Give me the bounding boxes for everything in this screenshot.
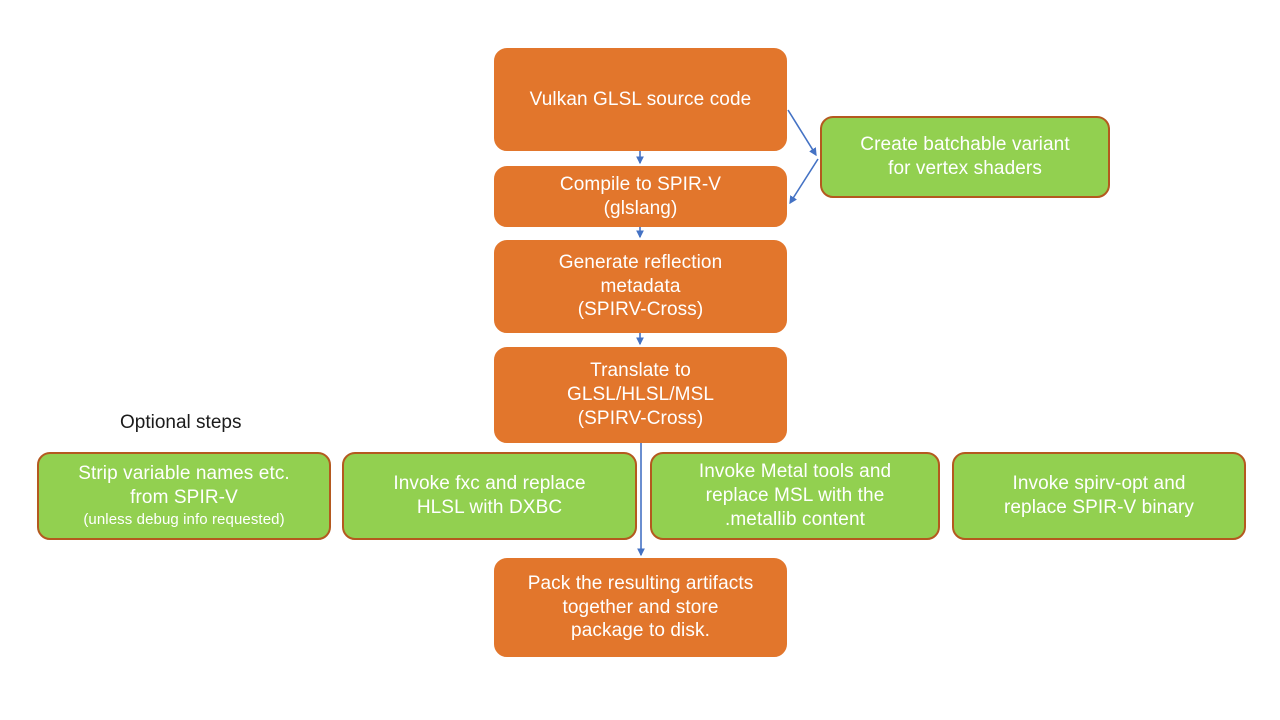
node-invoke-metal-tools-line-0: Invoke Metal tools and [699,460,891,484]
node-invoke-fxc-replace-hlsl-line-0: Invoke fxc and replace [393,472,585,496]
connector-source-to-batchable [788,110,816,155]
node-strip-variable-names-line-1: from SPIR-V [130,486,238,510]
node-generate-reflection-metadata-line-0: Generate reflection [559,251,723,275]
node-invoke-spirv-opt-line-0: Invoke spirv-opt and [1012,472,1185,496]
node-pack-artifacts-line-2: package to disk. [571,619,710,643]
node-invoke-fxc-replace-hlsl-line-1: HLSL with DXBC [417,496,562,520]
connector-batchable-to-compile [790,159,818,203]
node-strip-variable-names-line-0: Strip variable names etc. [78,462,290,486]
node-strip-variable-names[interactable]: Strip variable names etc.from SPIR-V(unl… [37,452,331,540]
node-invoke-spirv-opt[interactable]: Invoke spirv-opt andreplace SPIR-V binar… [952,452,1246,540]
node-invoke-metal-tools-line-2: .metallib content [725,508,865,532]
node-invoke-fxc-replace-hlsl[interactable]: Invoke fxc and replaceHLSL with DXBC [342,452,637,540]
node-invoke-metal-tools-line-1: replace MSL with the [706,484,885,508]
node-pack-artifacts-line-1: together and store [562,596,718,620]
node-translate-to-glsl-hlsl-msl-line-2: (SPIRV-Cross) [578,407,704,431]
node-create-batchable-variant-line-1: for vertex shaders [888,157,1042,181]
node-pack-artifacts[interactable]: Pack the resulting artifactstogether and… [494,558,787,657]
node-generate-reflection-metadata-line-2: (SPIRV-Cross) [578,298,704,322]
optional-steps-label: Optional steps [120,412,241,435]
node-vulkan-glsl-source-line-0: Vulkan GLSL source code [530,88,752,112]
node-compile-to-spirv-line-1: (glslang) [604,197,678,221]
node-create-batchable-variant[interactable]: Create batchable variantfor vertex shade… [820,116,1110,198]
node-translate-to-glsl-hlsl-msl-line-1: GLSL/HLSL/MSL [567,383,714,407]
node-generate-reflection-metadata-line-1: metadata [600,275,680,299]
node-compile-to-spirv-line-0: Compile to SPIR-V [560,173,721,197]
node-invoke-metal-tools[interactable]: Invoke Metal tools andreplace MSL with t… [650,452,940,540]
node-vulkan-glsl-source[interactable]: Vulkan GLSL source code [494,48,787,151]
node-translate-to-glsl-hlsl-msl[interactable]: Translate toGLSL/HLSL/MSL(SPIRV-Cross) [494,347,787,443]
node-create-batchable-variant-line-0: Create batchable variant [860,133,1069,157]
diagram-canvas: Vulkan GLSL source codeCompile to SPIR-V… [0,0,1280,720]
node-generate-reflection-metadata[interactable]: Generate reflectionmetadata(SPIRV-Cross) [494,240,787,333]
node-pack-artifacts-line-0: Pack the resulting artifacts [528,572,754,596]
node-strip-variable-names-line-2: (unless debug info requested) [83,510,284,530]
node-translate-to-glsl-hlsl-msl-line-0: Translate to [590,359,691,383]
node-compile-to-spirv[interactable]: Compile to SPIR-V(glslang) [494,166,787,227]
node-invoke-spirv-opt-line-1: replace SPIR-V binary [1004,496,1194,520]
